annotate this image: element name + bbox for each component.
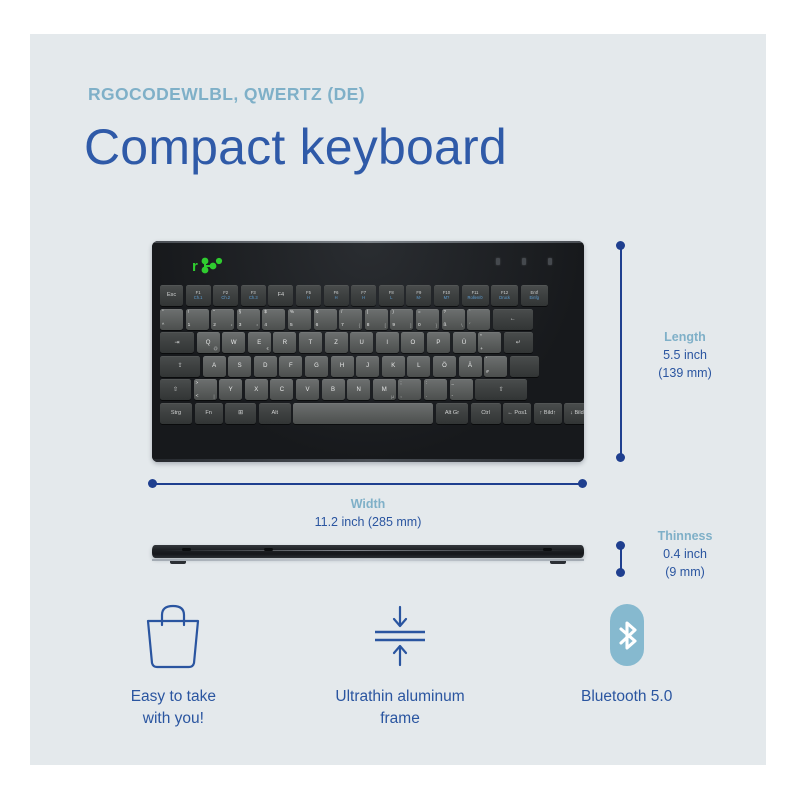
key-blank[interactable]: ⊞ — [225, 403, 256, 424]
key-w[interactable]: W — [222, 332, 245, 353]
key-pos1[interactable]: ← Pos1 — [503, 403, 531, 424]
key-f1[interactable]: F1Ch.1 — [186, 285, 211, 306]
key-row-modifier-row: StrgFn⊞AltAlt GrCtrl← Pos1↑ Bild↑↓ Bild↓… — [160, 403, 576, 424]
key-p[interactable]: P — [427, 332, 450, 353]
led-indicator-3 — [548, 258, 552, 265]
length-dim-endpoint-bottom — [616, 453, 625, 462]
key-9[interactable]: )9] — [390, 309, 413, 330]
width-dim-endpoint-left — [148, 479, 157, 488]
length-caption: Length — [630, 329, 740, 347]
feature-ultrathin-line2: frame — [335, 708, 464, 730]
key-bild[interactable]: ↓ Bild↓ — [564, 403, 584, 424]
key-n[interactable]: N — [347, 379, 370, 400]
key-v[interactable]: V — [296, 379, 319, 400]
key-8[interactable]: (8[ — [365, 309, 388, 330]
key-blank[interactable]: '# — [484, 356, 507, 377]
key-2[interactable]: "2² — [211, 309, 234, 330]
bluetooth-icon — [588, 600, 666, 672]
key-entf[interactable]: EntfEinfg — [521, 285, 548, 306]
side-port-mid — [264, 548, 273, 551]
key-f6[interactable]: F6H — [324, 285, 349, 306]
key-blank[interactable] — [293, 403, 433, 424]
thinness-metric: (9 mm) — [630, 564, 740, 582]
key-f4[interactable]: F4 — [268, 285, 293, 306]
key-blank[interactable]: ⇧ — [475, 379, 527, 400]
key-f9[interactable]: F9M- — [406, 285, 431, 306]
width-dimension-line — [156, 483, 580, 485]
key-blank[interactable]: *+ — [478, 332, 501, 353]
key-bild[interactable]: ↑ Bild↑ — [534, 403, 562, 424]
key-blank[interactable]: `´ — [467, 309, 490, 330]
thinness-imperial: 0.4 inch — [630, 546, 740, 564]
key-grid: EscF1Ch.1F2Ch.2F3Ch.3F4F5HF6HF7HF8LF9M-F… — [160, 285, 576, 427]
key-o[interactable]: O — [401, 332, 424, 353]
key-q[interactable]: Q@ — [197, 332, 220, 353]
key-row-qwertz-row: ⇥Q@WE€RTZUIOPÜ*+↵ — [160, 332, 576, 353]
key-y[interactable]: Y — [219, 379, 242, 400]
status-leds — [496, 258, 552, 265]
side-port-right — [543, 548, 552, 551]
key-blank[interactable]: ⇥ — [160, 332, 194, 353]
key-t[interactable]: T — [299, 332, 322, 353]
key-blank[interactable]: Ö — [433, 356, 456, 377]
key-blank[interactable]: ⇪ — [160, 356, 200, 377]
key-blank[interactable]: °^ — [160, 309, 183, 330]
key-fn[interactable]: Fn — [195, 403, 223, 424]
led-indicator-2 — [522, 258, 526, 265]
key-m[interactable]: Mµ — [373, 379, 396, 400]
key-r[interactable]: R — [273, 332, 296, 353]
width-dim-endpoint-right — [578, 479, 587, 488]
key-blank[interactable]: ;, — [398, 379, 421, 400]
feature-ultrathin: Ultrathin aluminum frame — [287, 600, 514, 731]
key-z[interactable]: Z — [325, 332, 348, 353]
page-title: Compact keyboard — [84, 118, 507, 176]
key-f11[interactable]: F11Rollen/0 — [462, 285, 489, 306]
thinness-caption: Thinness — [630, 528, 740, 546]
key-f5[interactable]: F5H — [296, 285, 321, 306]
key-blank[interactable]: _- — [450, 379, 473, 400]
key-f12[interactable]: F12Druck — [491, 285, 518, 306]
key-x[interactable]: X — [245, 379, 268, 400]
length-imperial: 5.5 inch — [630, 347, 740, 365]
key-row-function-row: EscF1Ch.1F2Ch.2F3Ch.3F4F5HF6HF7HF8LF9M-F… — [160, 285, 576, 306]
key-4[interactable]: $4 — [262, 309, 285, 330]
length-dim-endpoint-top — [616, 241, 625, 250]
key-j[interactable]: J — [356, 356, 379, 377]
thinness-dim-endpoint-bottom — [616, 568, 625, 577]
side-port-left — [182, 548, 191, 551]
key-row-number-row: °^!1"2²§3³$4%5&6/7{(8[)9]=0}?ß\`´← — [160, 309, 576, 330]
key-h[interactable]: H — [331, 356, 354, 377]
key-e[interactable]: E€ — [248, 332, 271, 353]
key-b[interactable]: B — [322, 379, 345, 400]
key-d[interactable]: D — [254, 356, 277, 377]
key-5[interactable]: %5 — [288, 309, 311, 330]
key-alt-gr[interactable]: Alt Gr — [436, 403, 468, 424]
key-f8[interactable]: F8L — [379, 285, 404, 306]
feature-portability-line1: Easy to take — [131, 686, 216, 708]
key-blank[interactable] — [510, 356, 539, 377]
key-3[interactable]: §3³ — [237, 309, 260, 330]
svg-text:r: r — [192, 258, 198, 275]
key-blank[interactable]: ?ß\ — [442, 309, 465, 330]
key-blank[interactable]: Ä — [459, 356, 482, 377]
feature-ultrathin-label: Ultrathin aluminum frame — [335, 686, 464, 731]
product-model-subtitle: RGOCODEWLBL, QWERTZ (DE) — [88, 84, 365, 105]
key-blank[interactable]: ← — [493, 309, 533, 330]
key-blank[interactable]: ><| — [194, 379, 217, 400]
key-6[interactable]: &6 — [314, 309, 337, 330]
ultrathin-arrows-icon — [361, 600, 439, 672]
feature-bluetooth-label: Bluetooth 5.0 — [581, 686, 672, 708]
side-profile-highlight — [161, 550, 576, 551]
key-s[interactable]: S — [228, 356, 251, 377]
key-f[interactable]: F — [279, 356, 302, 377]
length-dimension-line — [620, 245, 622, 458]
feature-portability-line2: with you! — [131, 708, 216, 730]
key-blank[interactable]: ⇧ — [160, 379, 191, 400]
key-strg[interactable]: Strg — [160, 403, 192, 424]
key-row-shift-row: ⇧><|YXCVBNMµ;,:._-⇧ — [160, 379, 576, 400]
thinness-dim-endpoint-top — [616, 541, 625, 550]
keyboard-bottom-edge — [152, 459, 584, 462]
bag-icon — [134, 600, 212, 672]
feature-portability: Easy to take with you! — [60, 600, 287, 731]
key-7[interactable]: /7{ — [339, 309, 362, 330]
feature-list: Easy to take with you! Ultrathin aluminu… — [60, 600, 740, 731]
key-a[interactable]: A — [203, 356, 226, 377]
key-blank[interactable]: ↵ — [504, 332, 533, 353]
key-alt[interactable]: Alt — [259, 403, 291, 424]
feature-ultrathin-line1: Ultrathin aluminum — [335, 686, 464, 708]
key-i[interactable]: I — [376, 332, 399, 353]
keyboard-top-view: r EscF1Ch.1F2Ch.2F3Ch.3F4F5HF6HF7HF8LF9M… — [152, 241, 584, 462]
key-g[interactable]: G — [305, 356, 328, 377]
key-ctrl[interactable]: Ctrl — [471, 403, 501, 424]
side-foot-right — [550, 561, 566, 564]
key-f3[interactable]: F3Ch.3 — [241, 285, 266, 306]
key-f10[interactable]: F10M? — [434, 285, 459, 306]
key-row-home-row: ⇪ASDFGHJKLÖÄ'# — [160, 356, 576, 377]
feature-bluetooth: Bluetooth 5.0 — [513, 600, 740, 731]
width-caption: Width — [263, 496, 473, 514]
thinness-dimension-label: Thinness 0.4 inch (9 mm) — [630, 528, 740, 581]
key-f2[interactable]: F2Ch.2 — [213, 285, 238, 306]
led-indicator-1 — [496, 258, 500, 265]
infographic-canvas: RGOCODEWLBL, QWERTZ (DE) Compact keyboar… — [0, 0, 800, 800]
key-blank[interactable]: :. — [424, 379, 447, 400]
key-u[interactable]: U — [350, 332, 373, 353]
key-esc[interactable]: Esc — [160, 285, 183, 306]
key-l[interactable]: L — [407, 356, 430, 377]
key-c[interactable]: C — [270, 379, 293, 400]
key-1[interactable]: !1 — [186, 309, 209, 330]
side-profile-body — [152, 545, 584, 558]
key-k[interactable]: K — [382, 356, 405, 377]
keyboard-side-view — [152, 542, 584, 564]
width-value: 11.2 inch (285 mm) — [263, 514, 473, 532]
keyboard-top-edge — [152, 241, 584, 243]
width-dimension-label: Width 11.2 inch (285 mm) — [263, 496, 473, 532]
feature-portability-label: Easy to take with you! — [131, 686, 216, 731]
side-profile-base-edge — [152, 559, 584, 561]
r-go-logo: r — [192, 255, 226, 275]
key-blank[interactable]: Ü — [453, 332, 476, 353]
feature-bluetooth-line1: Bluetooth 5.0 — [581, 686, 672, 708]
length-metric: (139 mm) — [630, 365, 740, 383]
side-foot-left — [170, 561, 186, 564]
length-dimension-label: Length 5.5 inch (139 mm) — [630, 329, 740, 382]
key-f7[interactable]: F7H — [351, 285, 376, 306]
key-0[interactable]: =0} — [416, 309, 439, 330]
